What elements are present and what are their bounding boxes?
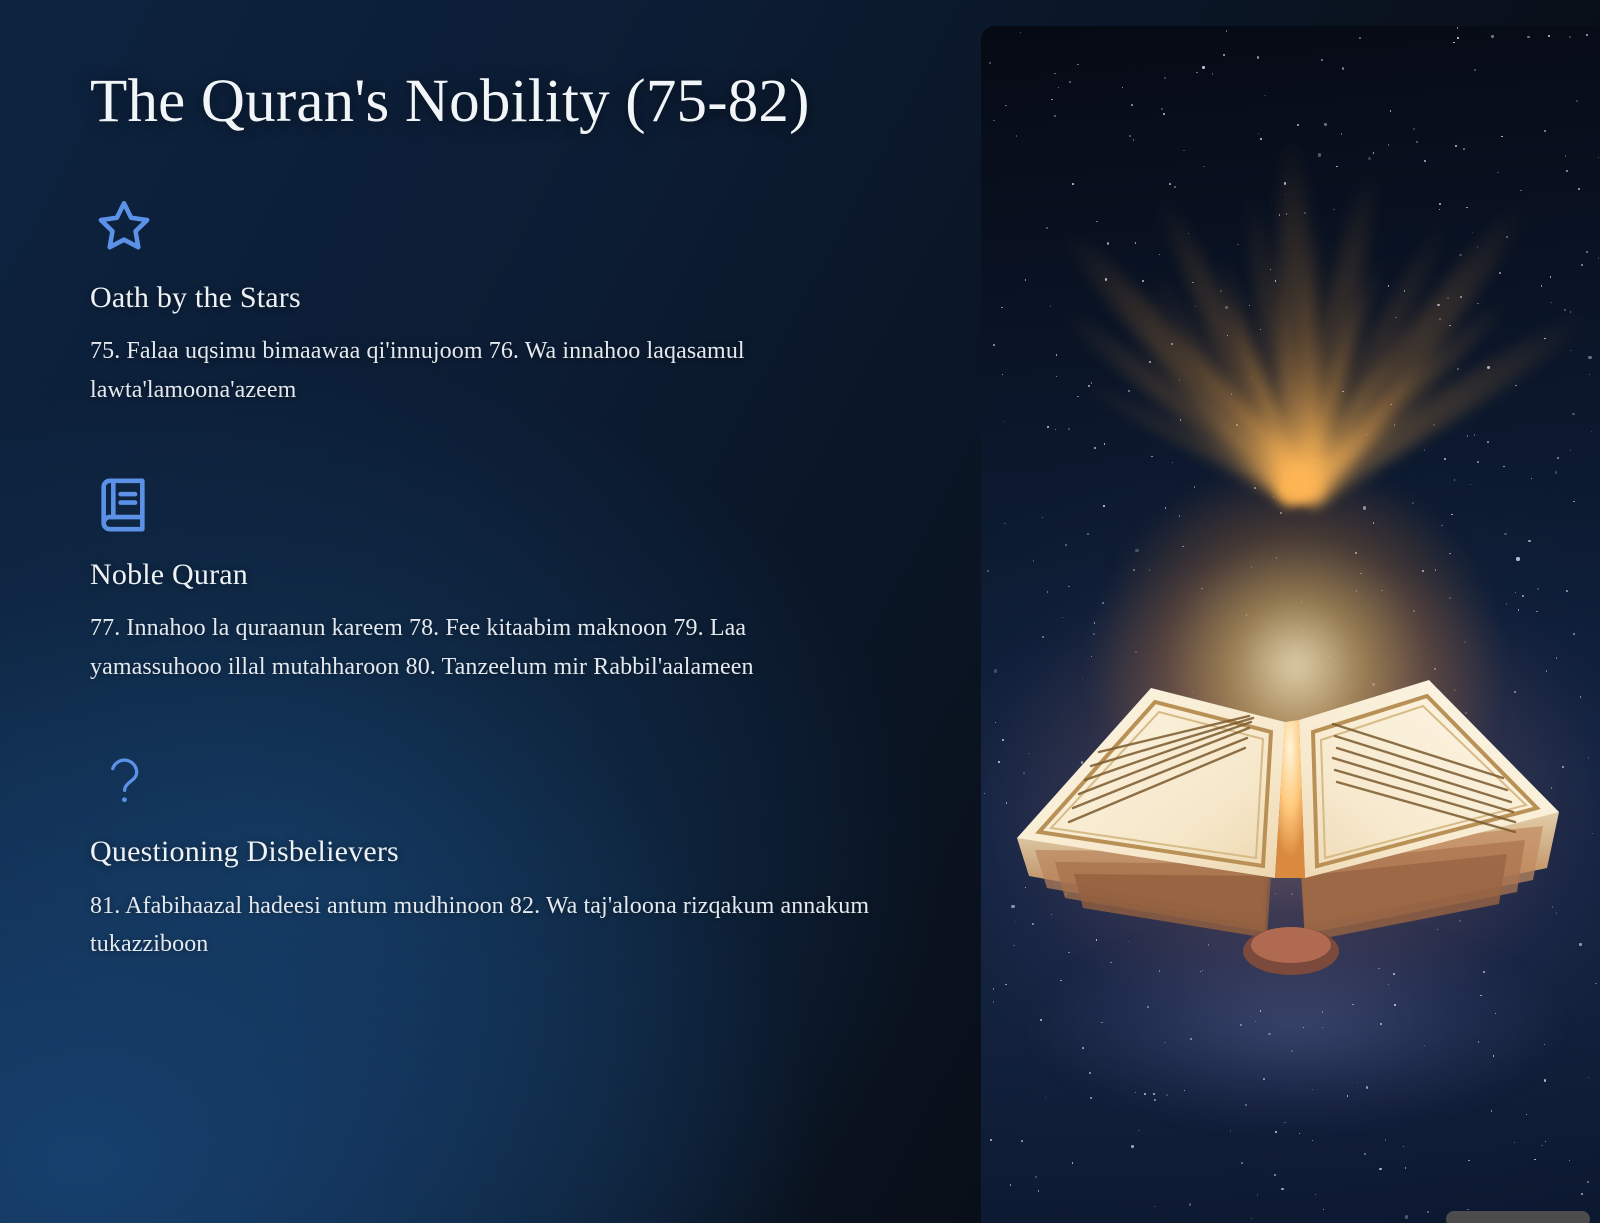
star-icon	[90, 197, 890, 255]
content-column: The Quran's Nobility (75-82) Oath by the…	[0, 0, 980, 1223]
slide-root: The Quran's Nobility (75-82) Oath by the…	[0, 0, 1600, 1223]
section-list: Oath by the Stars 75. Falaa uqsimu bimaa…	[90, 197, 890, 965]
section-body: 75. Falaa uqsimu bimaawaa qi'innujoom 76…	[90, 332, 880, 410]
section-title: Questioning Disbelievers	[90, 833, 890, 871]
page-title: The Quran's Nobility (75-82)	[90, 62, 810, 143]
question-mark-icon	[90, 751, 890, 809]
section-title: Noble Quran	[90, 556, 890, 594]
section-questioning-disbelievers: Questioning Disbelievers 81. Afabihaazal…	[90, 751, 890, 964]
section-body: 81. Afabihaazal hadeesi antum mudhinoon …	[90, 887, 880, 965]
book-icon	[90, 476, 890, 534]
open-quran-illustration	[999, 626, 1589, 1006]
illustration-panel	[981, 26, 1600, 1223]
section-noble-quran: Noble Quran 77. Innahoo la quraanun kare…	[90, 476, 890, 687]
horizontal-scrollbar-thumb[interactable]	[1446, 1211, 1590, 1223]
section-body: 77. Innahoo la quraanun kareem 78. Fee k…	[90, 609, 880, 687]
section-oath-by-the-stars: Oath by the Stars 75. Falaa uqsimu bimaa…	[90, 197, 890, 410]
section-title: Oath by the Stars	[90, 279, 890, 317]
